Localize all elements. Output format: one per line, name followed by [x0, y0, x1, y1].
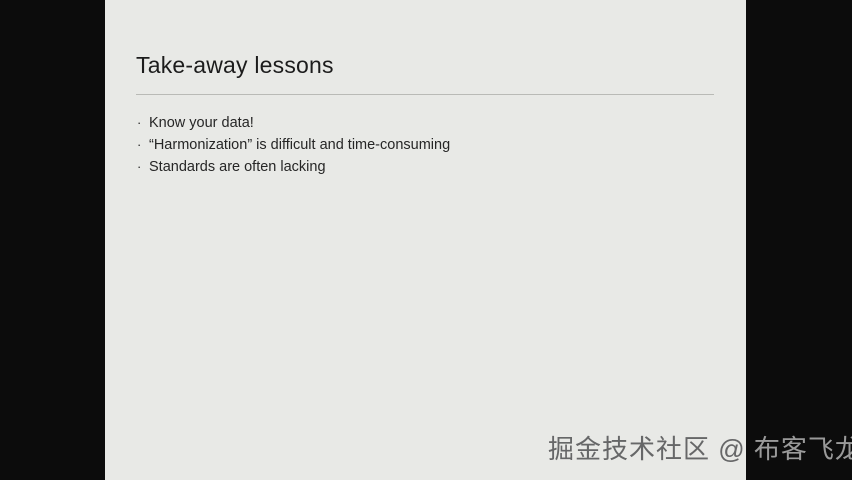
video-player-frame: Take-away lessons · Know your data! · “H… — [0, 0, 852, 480]
list-item: · “Harmonization” is difficult and time-… — [137, 134, 450, 156]
list-item: · Standards are often lacking — [137, 156, 450, 178]
presentation-slide: Take-away lessons · Know your data! · “H… — [105, 0, 746, 480]
letterbox-bar-right — [746, 0, 852, 480]
list-item-label: Know your data! — [149, 112, 254, 134]
list-item-label: Standards are often lacking — [149, 156, 326, 178]
slide-title: Take-away lessons — [136, 52, 334, 79]
letterbox-bar-left — [0, 0, 105, 480]
bullet-dot-icon: · — [137, 112, 149, 134]
list-item: · Know your data! — [137, 112, 450, 134]
bullet-list: · Know your data! · “Harmonization” is d… — [137, 112, 450, 178]
title-divider-rule — [136, 94, 714, 95]
list-item-label: “Harmonization” is difficult and time-co… — [149, 134, 450, 156]
bullet-dot-icon: · — [137, 156, 149, 178]
bullet-dot-icon: · — [137, 134, 149, 156]
